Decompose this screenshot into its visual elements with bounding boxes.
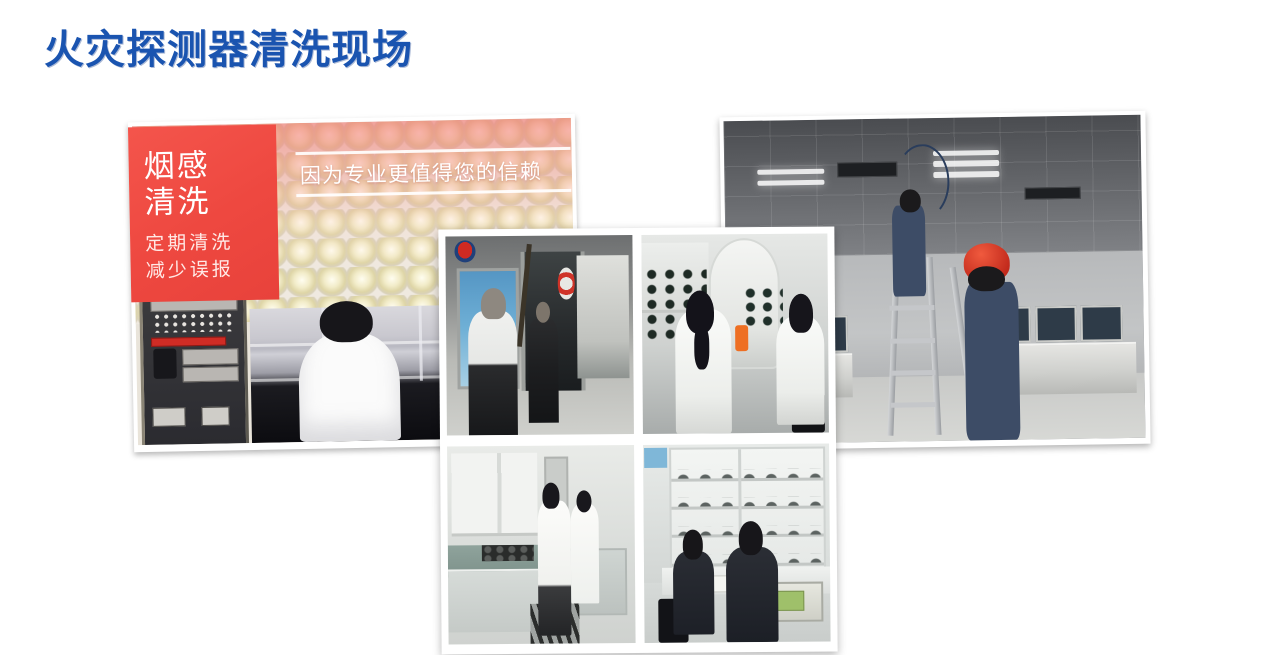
badge-sub-line2: 减少误报: [145, 256, 278, 286]
vacuum-hose: [895, 144, 950, 220]
foreground-worker-head: [968, 265, 1006, 291]
process-grid: [445, 234, 830, 645]
page-title: 火灾探测器清洗现场: [44, 30, 413, 70]
console-monitor-4: [1081, 305, 1123, 342]
grid-cell-2[interactable]: [641, 234, 829, 434]
fire-alarm-control-rack: [140, 290, 250, 445]
grid-cell-1[interactable]: [445, 235, 633, 435]
banner-slogan: 因为专业更值得您的信赖: [295, 147, 571, 197]
slogan-text: 因为专业更值得您的信赖: [296, 150, 572, 194]
foreground-worker: [964, 281, 1021, 440]
console-monitor-3: [1035, 306, 1077, 343]
badge-heading-line1: 烟感: [143, 146, 277, 184]
grid-cell-4[interactable]: [643, 443, 831, 643]
photo-center-grid[interactable]: [438, 226, 837, 654]
smoke-detector-cleaning-badge[interactable]: 烟感 清洗 定期清洗 减少误报: [128, 124, 279, 302]
badge-heading-line2: 清洗: [144, 182, 278, 220]
photo-collage: 因为专业更值得您的信赖 烟感 清洗 定期清洗 减少误报: [0, 100, 1280, 580]
badge-sub-line1: 定期清洗: [145, 229, 278, 259]
